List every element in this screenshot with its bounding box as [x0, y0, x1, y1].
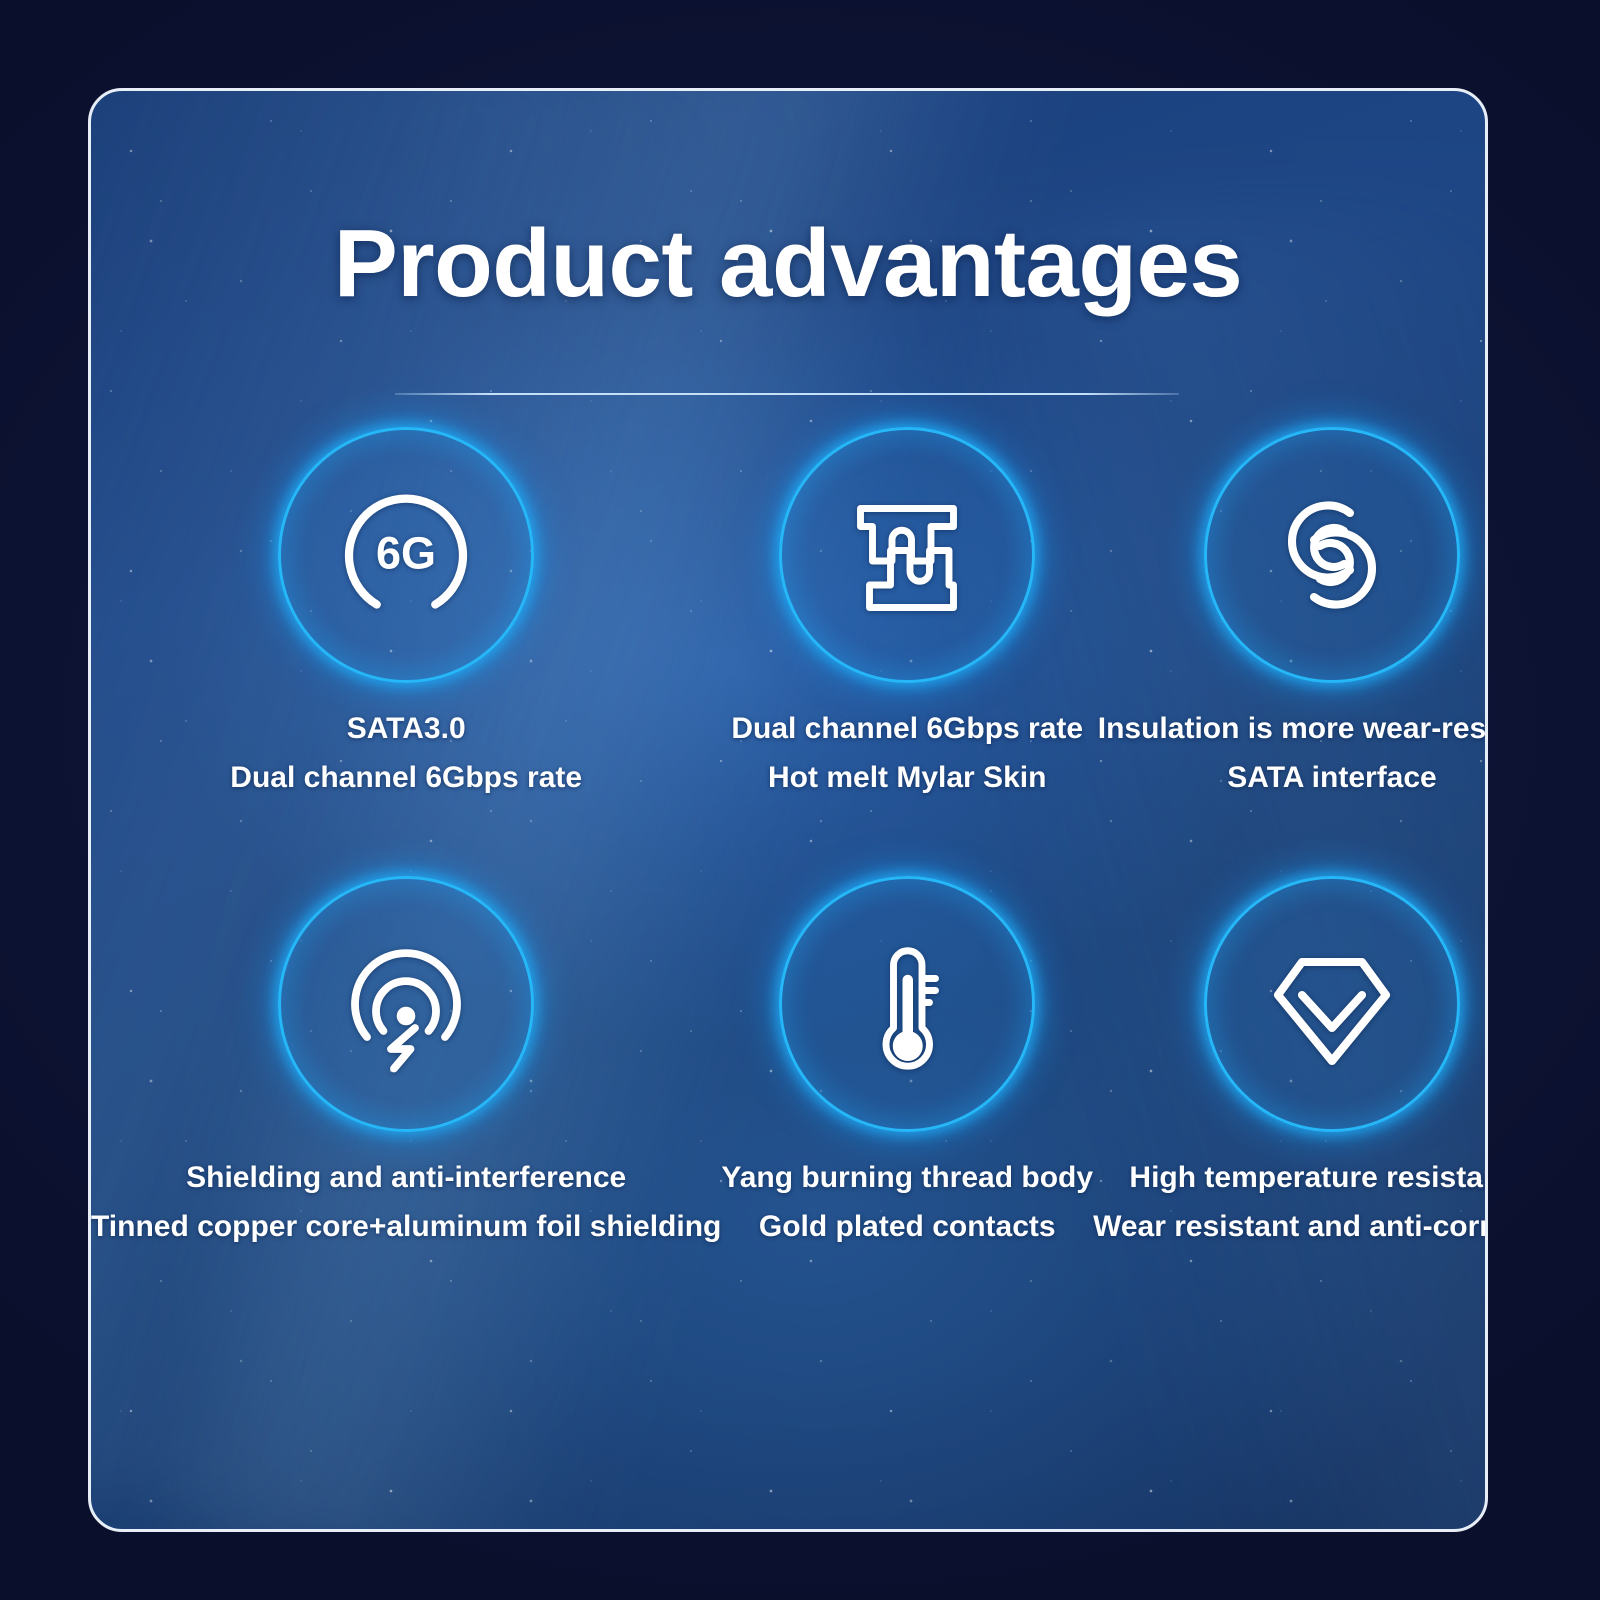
caption-line-2: Hot melt Mylar Skin [731, 754, 1083, 803]
feature-caption: Yang burning thread body Gold plated con… [721, 1154, 1093, 1251]
diamond-check-icon [1257, 929, 1407, 1079]
caption-line-1: Insulation is more wear-resistant [1098, 712, 1488, 745]
caption-line-1: SATA3.0 [347, 712, 466, 745]
caption-line-1: Shielding and anti-interference [186, 1161, 626, 1194]
feature-caption: High temperature resistance Wear resista… [1093, 1154, 1488, 1251]
page-title: Product advantages [91, 209, 1485, 319]
dual-connector-icon [832, 480, 982, 630]
caption-line-2: Dual channel 6Gbps rate [230, 754, 582, 803]
caption-line-2: SATA interface [1098, 754, 1488, 803]
caption-line-2: Gold plated contacts [721, 1203, 1093, 1252]
feature-card-dual-channel[interactable]: Dual channel 6Gbps rate Hot melt Mylar S… [721, 421, 1093, 802]
feature-card-insulation[interactable]: Insulation is more wear-resistant SATA i… [1093, 421, 1488, 802]
feature-card-shielding[interactable]: Shielding and anti-interference Tinned c… [91, 870, 721, 1251]
interlocking-spiral-icon [1257, 480, 1407, 630]
feature-caption: Shielding and anti-interference Tinned c… [91, 1154, 721, 1251]
caption-line-1: High temperature resistance [1129, 1161, 1488, 1194]
feature-card-thread-body[interactable]: Yang burning thread body Gold plated con… [721, 870, 1093, 1251]
feature-grid: 6G SATA3.0 Dual channel 6Gbps rate [91, 421, 1488, 1251]
6g-speed-icon: 6G [331, 480, 481, 630]
icon-badge [1198, 421, 1466, 689]
feature-card-sata3[interactable]: 6G SATA3.0 Dual channel 6Gbps rate [91, 421, 721, 802]
title-divider [395, 393, 1179, 395]
caption-line-1: Yang burning thread body [721, 1161, 1093, 1194]
icon-badge [272, 870, 540, 1138]
thermometer-icon [832, 929, 982, 1079]
feature-caption: SATA3.0 Dual channel 6Gbps rate [230, 705, 582, 802]
icon-badge [773, 870, 1041, 1138]
feature-card-high-temp[interactable]: High temperature resistance Wear resista… [1093, 870, 1488, 1251]
icon-badge [1198, 870, 1466, 1138]
poster-canvas: Product advantages 6G SATA3.0 Dual chan [0, 0, 1600, 1600]
svg-text:6G: 6G [376, 528, 436, 579]
content-panel: Product advantages 6G SATA3.0 Dual chan [88, 88, 1488, 1532]
feature-caption: Insulation is more wear-resistant SATA i… [1098, 705, 1488, 802]
caption-line-2: Wear resistant and anti-corrosion [1093, 1203, 1488, 1252]
caption-line-1: Dual channel 6Gbps rate [731, 712, 1083, 745]
icon-badge: 6G [272, 421, 540, 689]
icon-badge [773, 421, 1041, 689]
feature-caption: Dual channel 6Gbps rate Hot melt Mylar S… [731, 705, 1083, 802]
signal-shield-bolt-icon [331, 929, 481, 1079]
caption-line-2: Tinned copper core+aluminum foil shieldi… [91, 1203, 721, 1252]
